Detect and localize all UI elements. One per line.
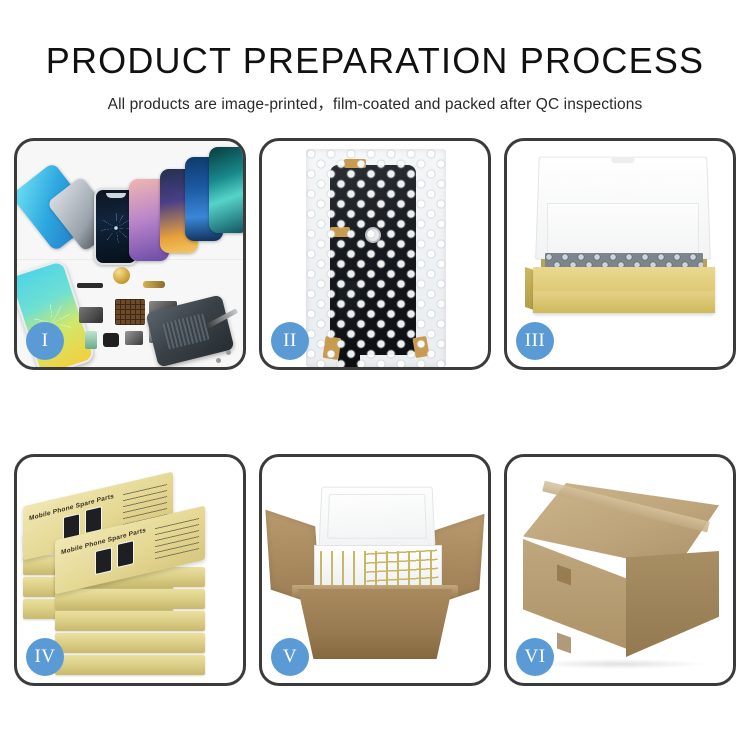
product-preparation-infographic: PRODUCT PREPARATION PROCESS All products… [0,0,750,750]
process-step-2: II [259,138,491,370]
box-stack: Mobile Phone Spare Parts Mobile Phone Sp… [23,471,237,669]
screw-icon [216,358,221,363]
carton-body-icon [298,589,452,659]
kraft-box-front-icon [533,291,715,313]
process-step-grid: I II [14,138,736,686]
step-badge-4: IV [26,638,64,676]
carton-tape-icon [557,632,571,653]
crack-pattern-icon [101,213,131,243]
process-step-3: III [504,138,736,370]
carton-right-face-icon [626,551,719,657]
step-badge-2: II [271,322,309,360]
phone-teal-icon [209,147,243,233]
stacked-box [55,633,205,653]
process-step-6: VI [504,454,736,686]
process-step-5: V [259,454,491,686]
step-badge-5: V [271,638,309,676]
box-artwork-thumbnail [117,540,134,568]
bubble-wrap-bag [306,149,446,367]
page-title: PRODUCT PREPARATION PROCESS [0,42,750,80]
step-badge-3: III [516,322,554,360]
bubble-texture [306,149,446,367]
chip-array-icon [115,299,145,325]
notch-icon [106,193,126,198]
stacked-box [55,589,205,609]
box-spec-lines [155,515,199,559]
vibration-motor-icon [113,267,130,284]
foam-box-lid-icon [319,487,436,547]
step-badge-1: I [26,322,64,360]
speaker-part-icon [77,283,103,288]
small-module-icon [103,333,119,347]
stacked-box [55,611,205,631]
carton-left-face-icon [523,539,627,649]
carton-shadow [531,659,707,669]
metal-bracket-icon [125,331,143,345]
battery-part-icon [85,331,97,349]
camera-module-icon [79,307,103,323]
screw-icon [226,350,231,355]
stacked-box [55,655,205,675]
box-artwork-thumbnail [95,547,112,575]
page-subtitle: All products are image-printed，film-coat… [0,92,750,114]
process-step-4: Mobile Phone Spare Parts Mobile Phone Sp… [14,454,246,686]
process-step-1: I [14,138,246,370]
gold-flex-cable-icon [143,281,165,288]
step-badge-6: VI [516,638,554,676]
header: PRODUCT PREPARATION PROCESS All products… [0,0,750,114]
